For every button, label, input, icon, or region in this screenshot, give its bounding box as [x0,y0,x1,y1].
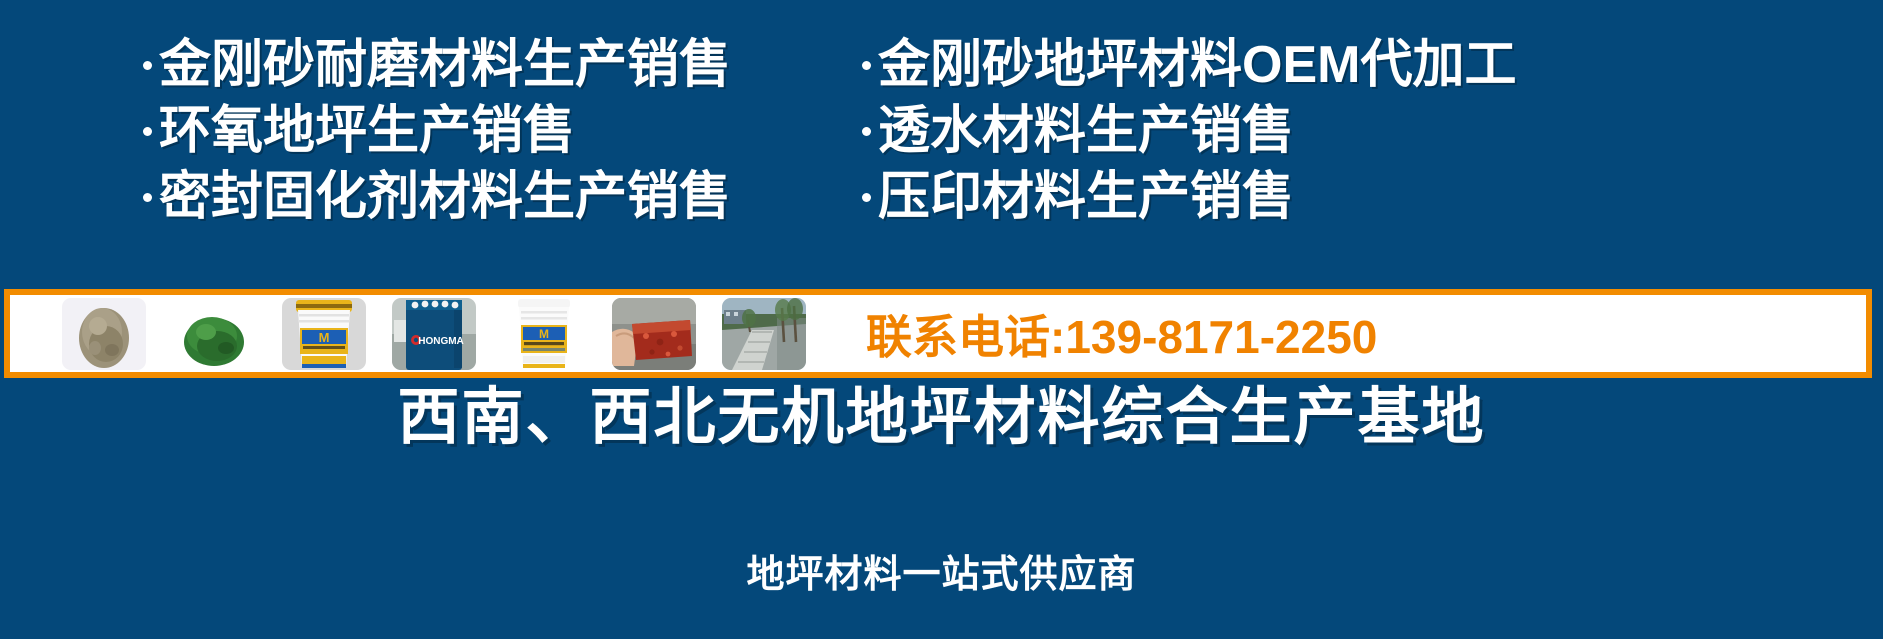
bullet-dot-icon [862,193,871,202]
feature-lists: 金刚砂耐磨材料生产销售 环氧地坪生产销售 密封固化剂材料生产销售 金刚砂地坪材料… [0,34,1883,234]
promo-banner: 金刚砂耐磨材料生产销售 环氧地坪生产销售 密封固化剂材料生产销售 金刚砂地坪材料… [0,0,1883,639]
feature-item: 环氧地坪生产销售 [143,100,731,162]
svg-text:M: M [319,330,330,345]
bullet-dot-icon [862,127,871,136]
feature-item-label: 金刚砂地坪材料OEM代加工 [878,34,1516,96]
banner-subheadline: 地坪材料一站式供应商 [0,552,1883,598]
bullet-dot-icon [143,193,152,202]
feature-item: 金刚砂地坪材料OEM代加工 [862,34,1516,96]
feature-column-left: 金刚砂耐磨材料生产销售 环氧地坪生产销售 密封固化剂材料生产销售 [143,34,731,232]
contact-phone[interactable]: 联系电话:139-8171-2250 [866,301,1377,367]
gray-emery-powder-pile-thumbnail [62,298,146,370]
feature-item: 压印材料生产销售 [862,166,1516,228]
powder-gray-icon [62,298,146,370]
feature-item-label: 密封固化剂材料生产销售 [159,166,731,228]
drum-blue-icon: HONGMA [392,298,476,370]
permeable-red-icon [612,298,696,370]
feature-item-label: 金刚砂耐磨材料生产销售 [159,34,731,96]
feature-item: 金刚砂耐磨材料生产销售 [143,34,731,96]
white-pail-sealer-thumbnail: M [282,298,366,370]
product-strip: M [4,289,1872,378]
pail-epoxy-icon: M [502,298,586,370]
svg-text:M: M [539,327,549,341]
pail-white-icon: M [282,298,366,370]
banner-headline: 西南、西北无机地坪材料综合生产基地 [0,382,1883,454]
white-pail-epoxy-thumbnail: M [502,298,586,370]
feature-item-label: 压印材料生产销售 [878,166,1294,228]
green-color-powder-pile-thumbnail [172,298,256,370]
feature-item-label: 环氧地坪生产销售 [159,100,575,162]
bullet-dot-icon [143,61,152,70]
feature-item-label: 透水材料生产销售 [878,100,1294,162]
feature-item: 透水材料生产销售 [862,100,1516,162]
paved-path-icon [722,298,806,370]
bullet-dot-icon [862,61,871,70]
bullet-dot-icon [143,127,152,136]
svg-text:HONGMA: HONGMA [418,336,464,347]
red-permeable-aggregate-hand-thumbnail [612,298,696,370]
powder-green-icon [172,298,256,370]
stone-paved-path-thumbnail [722,298,806,370]
product-thumbnail-list: M [62,298,806,370]
feature-item: 密封固化剂材料生产销售 [143,166,731,228]
feature-column-right: 金刚砂地坪材料OEM代加工 透水材料生产销售 压印材料生产销售 [862,34,1516,232]
blue-drum-hongma-thumbnail: HONGMA [392,298,476,370]
